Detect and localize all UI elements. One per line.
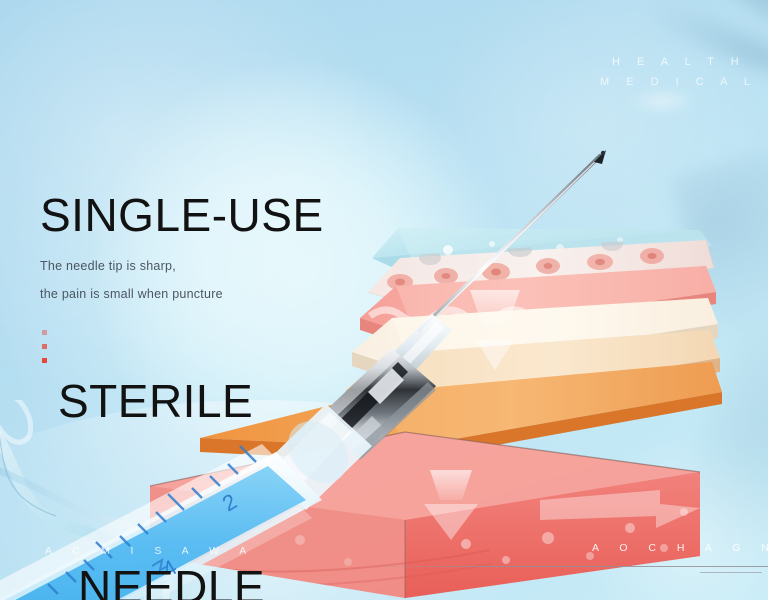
skin-layer-epidermis (360, 266, 716, 348)
needle-cone (392, 314, 452, 372)
subtitle-block: The needle tip is sharp, the pain is sma… (40, 252, 223, 308)
poster-canvas: 2 4 SINGLE-USE STERILE NEEDLE The needle… (0, 0, 768, 600)
page-title: SINGLE-USE STERILE NEEDLE (40, 60, 324, 600)
blurred-tube-icon (617, 0, 768, 60)
watermark-medical: M E D I C A L (600, 76, 757, 88)
background-glow-topright (430, 0, 760, 290)
skin-layer-dermis-cream (352, 298, 718, 386)
watermark-health: H E A L T H (612, 56, 746, 68)
watermark-brand-right: A O C H A G N G (592, 542, 768, 554)
accent-dots (42, 330, 47, 372)
skin-layer-dermis-tan (346, 330, 720, 424)
skin-layer-cells (368, 237, 714, 308)
watermark-brand-left: A C M I S A W A (45, 545, 255, 557)
blurred-highlight-icon (628, 88, 698, 114)
footer-rule (0, 566, 768, 567)
accent-dot-3 (42, 358, 47, 363)
footer-rule-accent (700, 572, 762, 573)
subtitle-line-2: the pain is small when puncture (40, 280, 223, 308)
accent-dot-2 (42, 344, 47, 349)
accent-dot-1 (42, 330, 47, 335)
blurred-tube-icon (670, 128, 768, 351)
blurred-tube-icon (644, 0, 768, 108)
needle-shaft (420, 150, 606, 331)
headline-line-2: STERILE (58, 370, 324, 432)
headline-line-3: NEEDLE (78, 556, 324, 600)
subtitle-line-1: The needle tip is sharp, (40, 252, 223, 280)
headline-line-1: SINGLE-USE (40, 184, 324, 246)
needle-tip-icon (594, 150, 606, 164)
skin-layer-surface (372, 228, 712, 280)
